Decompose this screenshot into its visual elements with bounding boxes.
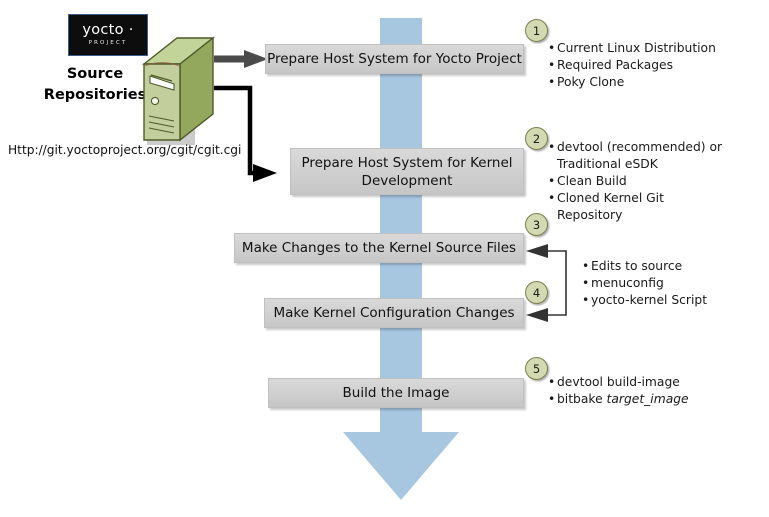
bullet-dot-icon: • [548, 391, 557, 408]
process-box-step-3-label: Make Changes to the Kernel Source Files [242, 239, 516, 257]
shared-bullet-1: Edits to source [591, 258, 769, 275]
main-flow-arrow-head [343, 432, 459, 500]
step-number-badge-2: 2 [525, 127, 548, 150]
step-number-badge-4: 4 [525, 281, 548, 304]
bullet-dot-icon: • [548, 57, 557, 74]
bullet-dot-icon: • [582, 275, 591, 292]
process-box-step-1-label: Prepare Host System for Yocto Project [267, 50, 522, 68]
list-item: • Edits to source [582, 258, 769, 275]
logo-wordmark: yocto · [82, 23, 133, 38]
step-number-badge-2-text: 2 [533, 132, 540, 146]
step-5-bullet-list: • devtool build-image • bitbake target_i… [548, 374, 748, 408]
process-box-step-3[interactable]: Make Changes to the Kernel Source Files [234, 233, 524, 263]
shared-bullet-2: menuconfig [591, 275, 769, 292]
shared-bullet-3: yocto-kernel Script [591, 292, 769, 309]
step-2-bullet-3: Cloned Kernel Git Repository [557, 190, 728, 224]
list-item: • Clean Build [548, 173, 728, 190]
step-5-bullet-2-command: bitbake [557, 392, 607, 406]
step-number-badge-1-text: 1 [533, 24, 540, 38]
process-box-step-5[interactable]: Build the Image [268, 378, 524, 408]
step-number-badge-5: 5 [525, 357, 548, 380]
bullet-dot-icon: • [548, 74, 557, 91]
bullet-dot-icon: • [582, 292, 591, 309]
step-number-badge-4-text: 4 [533, 286, 540, 300]
step-5-bullet-2-target: target_image [607, 392, 689, 406]
list-item: • bitbake target_image [548, 391, 748, 408]
step-number-badge-1: 1 [525, 19, 548, 42]
process-box-step-2-label-line2: Development [362, 172, 453, 190]
step-1-bullet-list: • Current Linux Distribution • Required … [548, 40, 762, 91]
logo-subtext: PROJECT [89, 39, 128, 47]
step-2-bullet-2: Clean Build [557, 173, 728, 190]
bullet-dot-icon: • [548, 173, 557, 190]
process-box-step-2-label-line1: Prepare Host System for Kernel [301, 154, 512, 172]
main-flow-arrow-shaft [380, 18, 422, 435]
list-item: • menuconfig [582, 275, 769, 292]
server-tower-icon [132, 26, 216, 146]
process-box-step-5-label: Build the Image [343, 384, 450, 402]
step-number-badge-3-text: 3 [533, 218, 540, 232]
process-box-step-4[interactable]: Make Kernel Configuration Changes [264, 298, 524, 328]
step-number-badge-3: 3 [525, 213, 548, 236]
bullet-dot-icon: • [548, 139, 557, 156]
bullet-dot-icon: • [548, 40, 557, 57]
list-item: • Cloned Kernel Git Repository [548, 190, 728, 224]
step-2-bullet-list: • devtool (recommended) or Traditional e… [548, 139, 728, 224]
bullet-dot-icon: • [548, 190, 557, 207]
list-item: • Required Packages [548, 57, 762, 74]
list-item: • Poky Clone [548, 74, 762, 91]
list-item: • devtool (recommended) or Traditional e… [548, 139, 728, 173]
bullet-dot-icon: • [548, 374, 557, 391]
workflow-diagram: yocto · PROJECT Source Repositories Http… [0, 0, 769, 517]
process-box-step-4-label: Make Kernel Configuration Changes [273, 304, 514, 322]
step-1-bullet-2: Required Packages [557, 57, 762, 74]
list-item: • Current Linux Distribution [548, 40, 762, 57]
list-item: • yocto-kernel Script [582, 292, 769, 309]
step-1-bullet-3: Poky Clone [557, 74, 762, 91]
step-5-bullet-1: devtool build-image [557, 374, 748, 391]
step-1-bullet-1: Current Linux Distribution [557, 40, 762, 57]
list-item: • devtool build-image [548, 374, 748, 391]
process-box-step-2[interactable]: Prepare Host System for Kernel Developme… [290, 148, 524, 195]
step-2-bullet-1: devtool (recommended) or Traditional eSD… [557, 139, 728, 173]
process-box-step-1[interactable]: Prepare Host System for Yocto Project [265, 44, 524, 74]
step-5-bullet-2: bitbake target_image [557, 391, 748, 408]
step-number-badge-5-text: 5 [533, 362, 540, 376]
bullet-dot-icon: • [582, 258, 591, 275]
steps-3-and-4-bullet-list: • Edits to source • menuconfig • yocto-k… [582, 258, 769, 309]
